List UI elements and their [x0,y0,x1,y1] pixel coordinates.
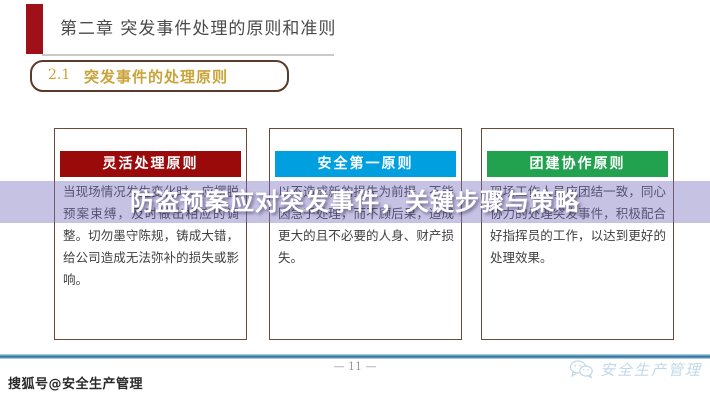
title-underline [42,54,334,56]
headline-overlay-text: 防盗预案应对突发事件，关键步骤与策略 [0,183,710,221]
panel-header-bar: 团建协作原则 [487,151,668,177]
panel-header-bar: 灵活处理原则 [60,151,241,177]
watermark-bottom-right: 安全生产管理 [569,358,702,380]
slide-title-block: 第二章 突发事件处理的原则和准则 [0,2,710,54]
section-label: 突发事件的处理原则 [84,66,228,87]
principle-panel: 灵活处理原则 当现场情况发生变化时，应摆脱预案束缚，及时做出相应的调整。切勿墨守… [54,128,247,340]
panel-header-bar: 安全第一原则 [275,151,456,177]
section-number: 2.1 [48,67,70,83]
watermark-bottom-left: 搜狐号@安全生产管理 [8,373,143,392]
principles-panel-group: 灵活处理原则 当现场情况发生变化时，应摆脱预案束缚，及时做出相应的调整。切勿墨守… [0,128,710,350]
page-title: 第二章 突发事件处理的原则和准则 [60,14,336,39]
panel-header-label: 团建协作原则 [487,151,668,177]
principle-panel: 团建协作原则 现场工作人员应团结一致，同心协力的处理突发事件，积极配合好指挥员的… [481,128,674,340]
wechat-icon [569,360,595,378]
panel-header-label: 安全第一原则 [275,151,456,177]
section-heading-box: 2.1 突发事件的处理原则 [30,60,289,92]
slide-canvas: 第二章 突发事件处理的原则和准则 2.1 突发事件的处理原则 灵活处理原则 当现… [0,0,710,400]
title-accent-bar [26,4,43,54]
panel-header-label: 灵活处理原则 [60,151,241,177]
principle-panel: 安全第一原则 以不造成新的损失为前提，不能因急于处理，而不顾后果，造成更大的且不… [269,128,462,340]
watermark-bottom-right-label: 安全生产管理 [600,359,702,380]
